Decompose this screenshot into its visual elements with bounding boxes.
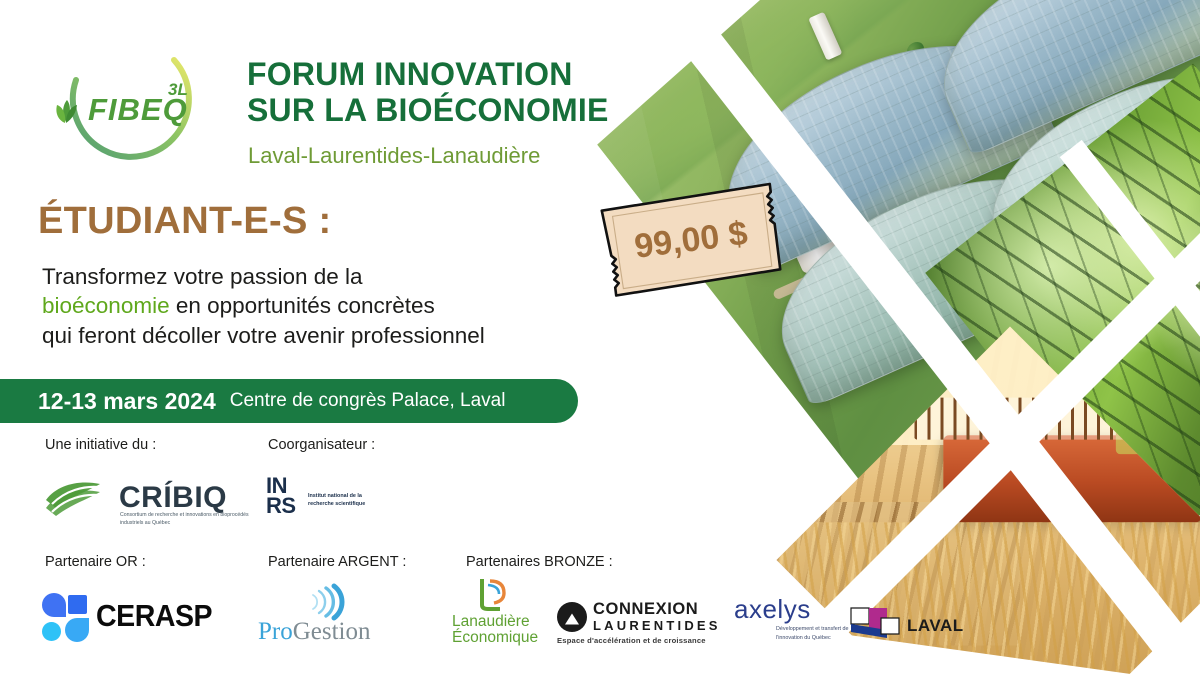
description-line-2: bioéconomie en opportunités concrètes [42,291,485,320]
laval-logo: LAVAL [847,602,967,642]
inrs-mark-line-2: RS [266,496,296,516]
bronze-partner-label: Partenaires BRONZE : [466,554,613,570]
page-title: FORUM INNOVATION SUR LA BIOÉCONOMIE [247,56,609,129]
axelys-name-rest: elys [762,594,810,624]
axelys-name-x: x [749,594,763,624]
price-ticket: 99,00 $ [595,181,787,298]
fibeq-logo: FIBEQ 3L [36,52,226,172]
bronze-partners-group: Lanaudière Économique CONNEXION LAURENTI… [452,580,892,650]
connexion-line-1: CONNEXION [593,600,698,619]
progestion-name-part-1: Pro [258,618,293,645]
photo-divider [1060,140,1200,488]
cerasp-shape-circle-bottom-left [42,622,61,641]
forest-canopy-photo [925,63,1200,556]
inrs-logo: IN RS Institut national de la recherche … [266,476,386,530]
inrs-tagline: Institut national de la recherche scient… [308,492,388,509]
event-date: 12-13 mars 2024 [38,388,216,415]
gold-partner-label: Partenaire OR : [45,554,146,570]
inrs-mark: IN RS [266,476,296,516]
connexion-line-2: LAURENTIDES [593,618,721,633]
silver-partner-label: Partenaire ARGENT : [268,554,406,570]
progestion-logo: ProGestion [258,582,408,648]
leaf-icon [50,96,84,126]
axelys-name-a: a [734,594,749,624]
cribiq-logo: CRÍBIQ Consortium de recherche et innova… [42,478,242,530]
cerasp-shape-square [68,595,87,614]
ticket-price: 99,00 $ [595,181,787,298]
audience-description: Transformez votre passion de la bioécono… [42,262,485,350]
lanaudiere-mark-icon [474,575,518,613]
connexion-mountain-icon [557,602,587,632]
poster-content: FIBEQ 3L FORUM INNOVATION SUR LA BIOÉCON… [0,0,700,675]
cribiq-tagline: Consortium de recherche et innovations e… [120,512,250,528]
audience-heading: ÉTUDIANT-E-S : [38,200,331,243]
photo-divider [676,17,1200,675]
laval-name: LAVAL [907,616,964,636]
logo-superscript: 3L [168,80,188,100]
description-line-3: qui feront décoller votre avenir profess… [42,321,485,350]
cerasp-name: CERASP [96,598,212,634]
axelys-name: axelys [734,594,811,625]
cribiq-leaves-icon [42,478,108,518]
cerasp-shape-circle-top-left [42,593,66,617]
lanaudiere-line-2: Économique [452,629,538,647]
cerasp-logo: CERASP [40,592,220,648]
page-subtitle: Laval-Laurentides-Lanaudière [248,143,540,169]
cerasp-shape-circle-bottom-right [65,618,89,642]
event-venue: Centre de congrès Palace, Laval [230,390,506,412]
title-line-2: SUR LA BIOÉCONOMIE [247,92,609,128]
coorganizer-label: Coorganisateur : [268,437,375,453]
progestion-name-part-2: Gestion [293,618,371,645]
initiative-label: Une initiative du : [45,437,156,453]
title-line-1: FORUM INNOVATION [247,56,609,92]
description-line-2-rest: en opportunités concrètes [170,293,435,318]
description-line-1: Transformez votre passion de la [42,262,485,291]
cribiq-name: CRÍBIQ [119,481,227,515]
axelys-tagline: Développement et transfert de l'innovati… [776,625,854,642]
laval-mark-icon [847,602,909,642]
event-poster: FIBEQ 3L FORUM INNOVATION SUR LA BIOÉCON… [0,0,1200,675]
progestion-name: ProGestion [258,618,371,646]
connexion-tagline: Espace d'accélération et de croissance [557,636,706,645]
event-banner: 12-13 mars 2024 Centre de congrès Palace… [0,379,578,423]
bioeconomie-highlight: bioéconomie [42,293,170,318]
progestion-arcs-icon [300,582,356,622]
